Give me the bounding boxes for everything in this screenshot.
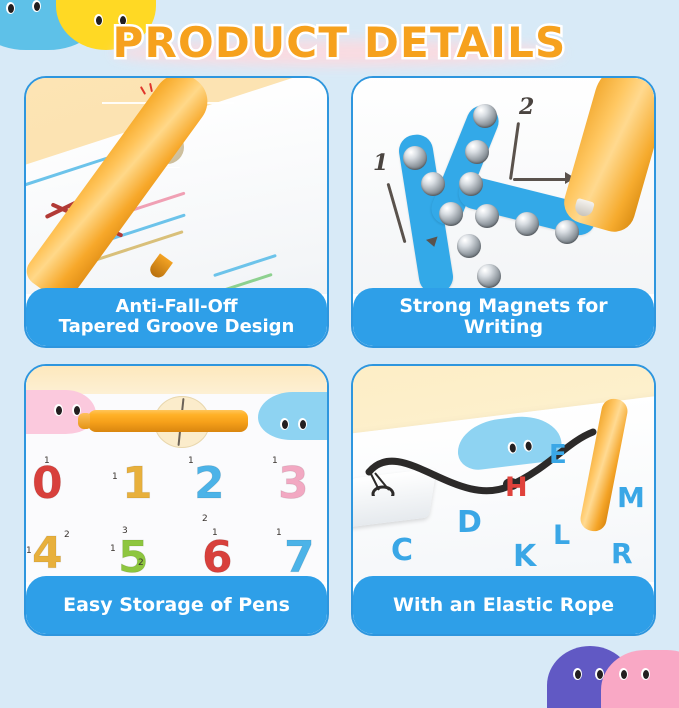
- number-stroke-label: 1: [212, 528, 218, 538]
- number-glyph: 5: [118, 536, 149, 580]
- steel-ball: [403, 146, 427, 170]
- steel-ball: [465, 140, 489, 164]
- panel-anti-fall-off[interactable]: Anti-Fall-Off Tapered Groove Design: [24, 76, 329, 348]
- blob-eye-icon: [280, 418, 289, 430]
- page-title: PRODUCT DETAILS: [0, 18, 679, 67]
- steel-ball: [439, 202, 463, 226]
- header: PRODUCT DETAILS: [0, 0, 679, 78]
- panel-4-photo: C D E H K L M R: [353, 366, 654, 582]
- number-stroke-label: 1: [110, 544, 116, 554]
- panel-4-caption: With an Elastic Rope: [353, 576, 654, 634]
- blob-eye-icon: [298, 418, 307, 430]
- letter-glyph: D: [457, 508, 482, 538]
- steel-ball: [477, 264, 501, 288]
- letter-glyph: E: [549, 442, 567, 468]
- number-stroke-label: 1: [26, 546, 32, 556]
- stroke-arrow-line: [513, 178, 569, 181]
- letter-glyph: C: [391, 536, 413, 566]
- number-stroke-label: 1: [44, 456, 50, 466]
- panel-2-caption: Strong Magnets for Writing: [353, 288, 654, 346]
- caption-line: Easy Storage of Pens: [63, 595, 290, 616]
- caption-line: Strong Magnets for Writing: [359, 296, 648, 338]
- number-stroke-label: 3: [122, 526, 128, 536]
- number-glyph: 2: [194, 462, 225, 506]
- steel-ball: [555, 220, 579, 244]
- number-stroke-label: 1: [112, 472, 118, 482]
- letter-glyph: M: [617, 484, 645, 512]
- panel-1-caption: Anti-Fall-Off Tapered Groove Design: [26, 288, 327, 346]
- steel-ball: [473, 104, 497, 128]
- panel-strong-magnets[interactable]: 1 2 Strong Magnets for Writing: [351, 76, 656, 348]
- caption-line: With an Elastic Rope: [393, 595, 614, 616]
- number-glyph: 6: [202, 536, 233, 580]
- steel-ball: [421, 172, 445, 196]
- letter-glyph: K: [513, 542, 536, 572]
- number-glyph: 7: [284, 536, 315, 580]
- blob-eye-icon: [641, 668, 650, 680]
- number-stroke-label: 1: [276, 528, 282, 538]
- panel-elastic-rope[interactable]: C D E H K L M R With an Elastic Rope: [351, 364, 656, 636]
- blob-eye-icon: [573, 668, 582, 680]
- stored-stylus-pen: [88, 410, 248, 432]
- impact-spark-icon: [140, 86, 146, 95]
- steel-ball: [459, 172, 483, 196]
- letter-glyph: R: [611, 540, 633, 568]
- blob-eye-icon: [619, 668, 628, 680]
- number-glyph: 1: [122, 462, 153, 506]
- letter-glyph: H: [505, 474, 528, 501]
- letter-glyph: L: [553, 522, 570, 549]
- number-stroke-label: 2: [202, 514, 208, 524]
- stroke-order-number: 1: [373, 150, 388, 176]
- number-glyph: 4: [32, 532, 63, 576]
- blob-eye-icon: [54, 404, 63, 416]
- panel-pen-storage[interactable]: 0 1 1 1 2 1 2 3 1 4 1 2 5 1 2 3 6 1 7 1 …: [24, 364, 329, 636]
- elastic-rope: [361, 428, 609, 496]
- number-stroke-label: 1: [272, 456, 278, 466]
- board-blob-blue: [258, 392, 327, 440]
- stroke-order-number: 2: [519, 94, 534, 120]
- steel-ball: [515, 212, 539, 236]
- number-glyph: 0: [32, 462, 63, 506]
- panel-3-caption: Easy Storage of Pens: [26, 576, 327, 634]
- panel-2-photo: 1 2: [353, 78, 654, 294]
- number-stroke-label: 2: [64, 530, 70, 540]
- panel-3-photo: 0 1 1 1 2 1 2 3 1 4 1 2 5 1 2 3 6 1 7 1: [26, 366, 327, 582]
- panel-1-photo: [26, 78, 327, 294]
- steel-ball: [475, 204, 499, 228]
- steel-ball: [457, 234, 481, 258]
- number-stroke-label: 1: [188, 456, 194, 466]
- number-glyph: 3: [278, 462, 309, 506]
- caption-line: Tapered Groove Design: [59, 317, 295, 337]
- caption-line: Anti-Fall-Off: [59, 297, 295, 317]
- number-stroke-label: 2: [138, 558, 144, 568]
- panel-grid: Anti-Fall-Off Tapered Groove Design: [24, 76, 656, 636]
- impact-spark-icon: [149, 83, 153, 92]
